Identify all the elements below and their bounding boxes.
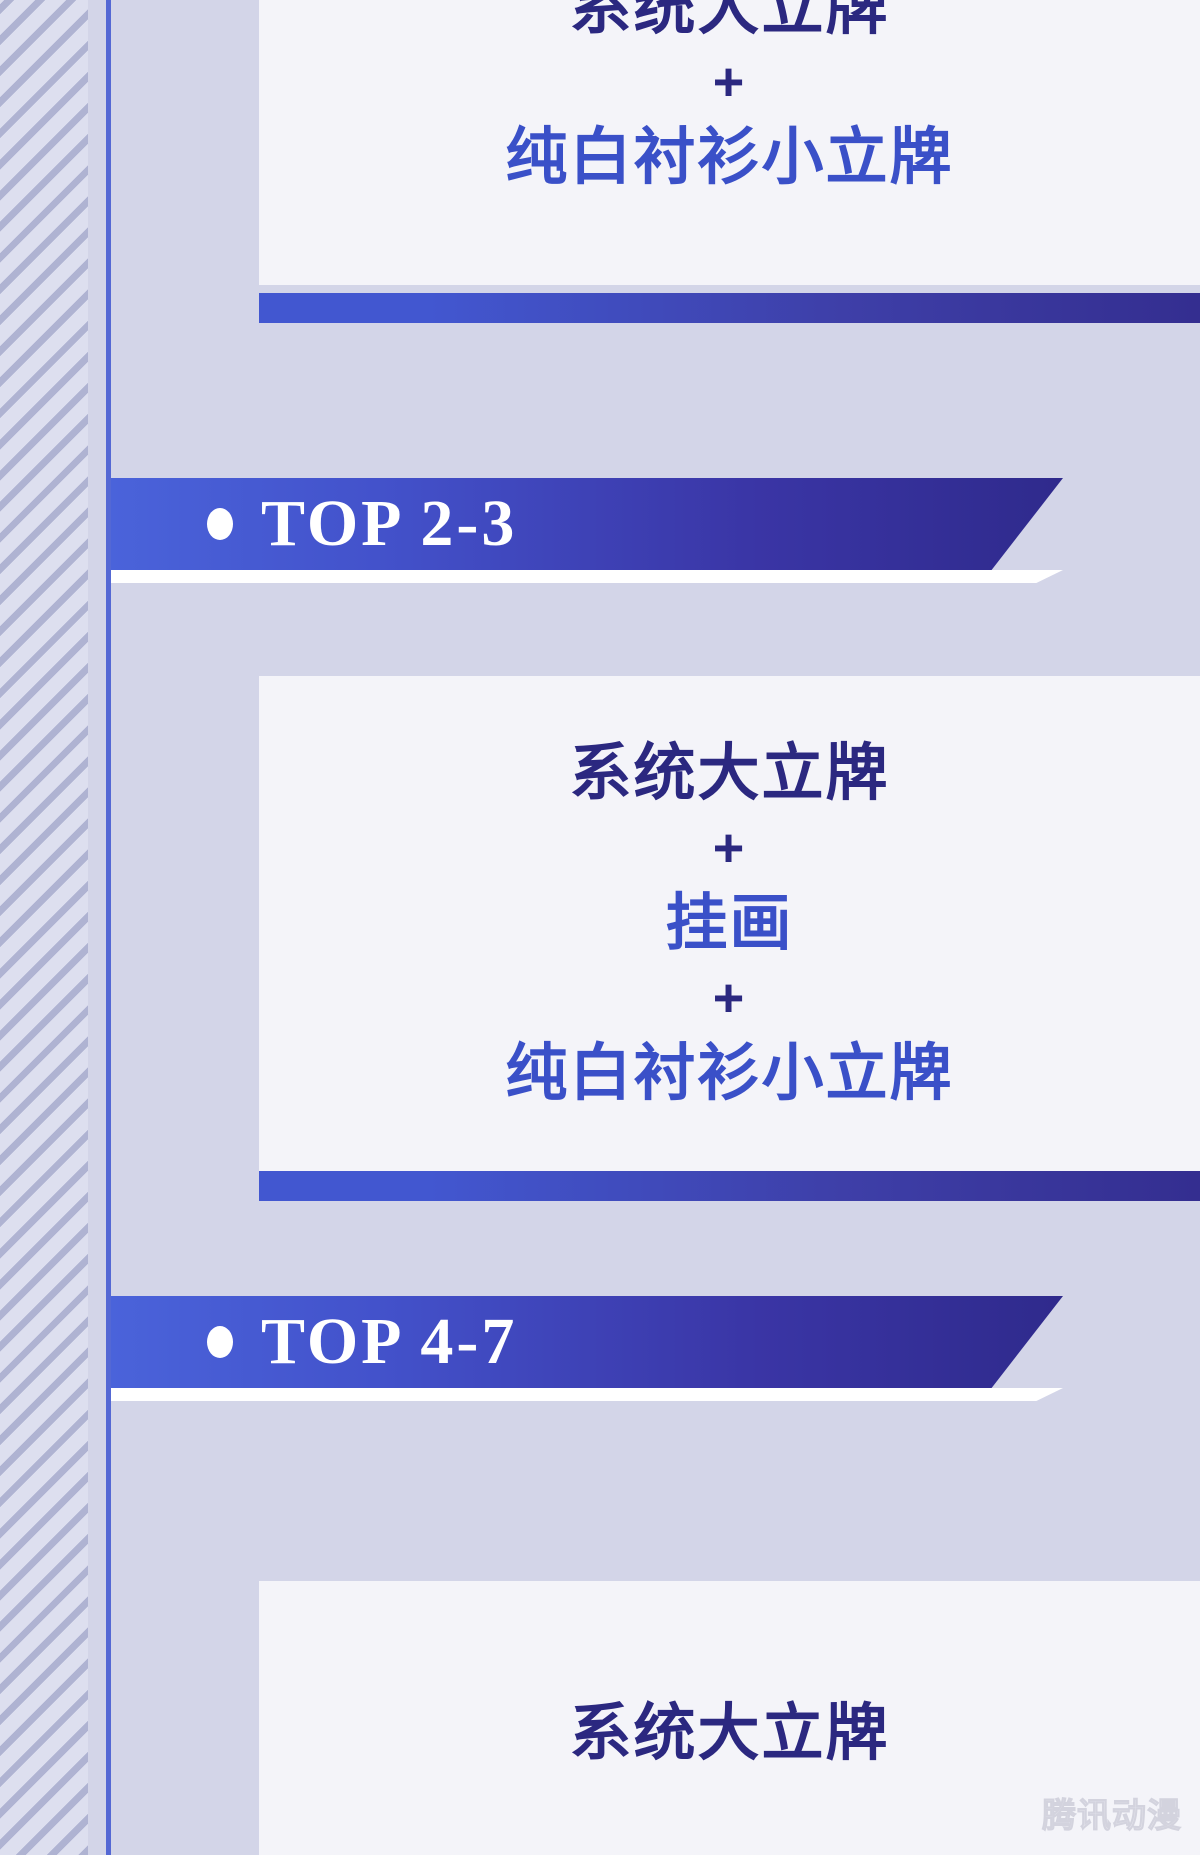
plus-separator: +	[713, 54, 747, 111]
plus-separator: +	[713, 970, 747, 1027]
card-line-text: 系统大立牌	[569, 741, 889, 806]
comic-page: 系统大立牌 + 纯白衬衫小立牌 TOP 2-3 系统大立牌 + 挂画 + 纯白衬…	[0, 0, 1200, 1855]
banner-label: TOP 4-7	[261, 1309, 517, 1375]
banner-label: TOP 2-3	[261, 491, 517, 557]
section-divider-top-2-3	[259, 1163, 1200, 1209]
banner-content: TOP 2-3	[111, 478, 1063, 570]
content-column: 系统大立牌 + 纯白衬衫小立牌 TOP 2-3 系统大立牌 + 挂画 + 纯白衬…	[111, 0, 1200, 1855]
section-divider-top-1	[259, 285, 1200, 331]
card-line-text: 纯白衬衫小立牌	[505, 1041, 953, 1106]
card-line-text: 系统大立牌	[569, 1701, 889, 1766]
banner-top-2-3[interactable]: TOP 2-3	[111, 478, 1063, 570]
plus-separator: +	[713, 820, 747, 877]
banner-underline	[111, 1388, 1063, 1401]
watermark: 腾讯动漫	[1042, 1788, 1182, 1837]
hatch-pattern-decoration	[0, 0, 88, 1855]
divider-bar	[259, 293, 1200, 323]
section-card-top-2-3: 系统大立牌 + 挂画 + 纯白衬衫小立牌	[259, 676, 1200, 1171]
banner-underline	[111, 570, 1063, 583]
banner-top-4-7[interactable]: TOP 4-7	[111, 1296, 1063, 1388]
card-line-text: 纯白衬衫小立牌	[505, 125, 953, 190]
bullet-dot-icon	[207, 508, 233, 540]
bullet-dot-icon	[207, 1326, 233, 1358]
divider-bar	[259, 1171, 1200, 1201]
section-card-top-1: 系统大立牌 + 纯白衬衫小立牌	[259, 0, 1200, 285]
banner-content: TOP 4-7	[111, 1296, 1063, 1388]
card-line-text: 系统大立牌	[569, 0, 889, 40]
rail-gap	[88, 0, 106, 1855]
card-line-text: 挂画	[665, 891, 793, 956]
